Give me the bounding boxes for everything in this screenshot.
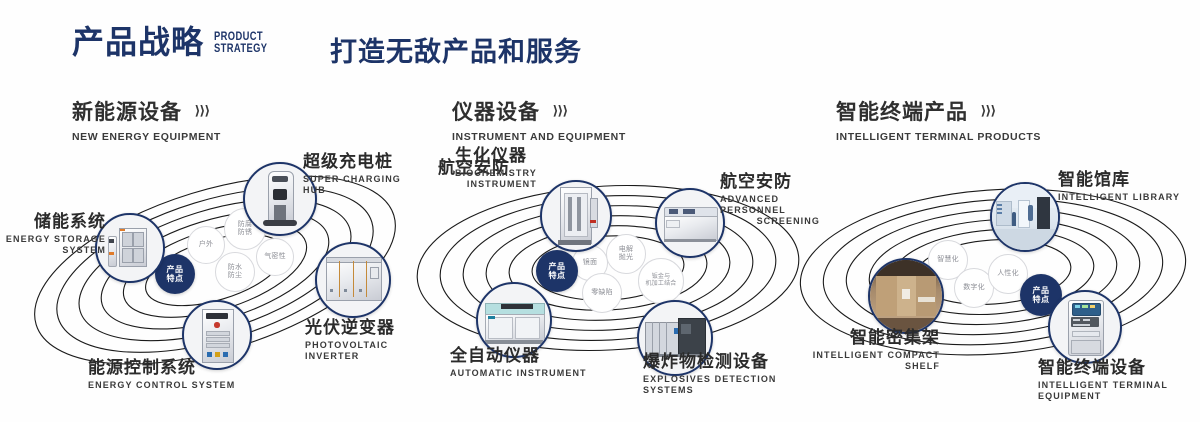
section-header-new-energy: 新能源设备 ⟩⟩⟩ NEW ENERGY EQUIPMENT xyxy=(72,96,221,143)
feature-bubble-line1: 防水 xyxy=(228,264,242,272)
product-circle-biochemistry[interactable] xyxy=(540,180,612,252)
product-label-cn: 储能系统 xyxy=(0,212,106,232)
section-title-cn: 新能源设备 xyxy=(72,96,182,126)
section-header-intelligent-terminal: 智能终端产品 ⟩⟩⟩ INTELLIGENT TERMINAL PRODUCTS xyxy=(836,96,1041,143)
chevron-right-icon: ⟩⟩⟩ xyxy=(552,103,567,119)
product-label-en-line1: INTELLIGENT COMPACT xyxy=(780,350,940,361)
section-header-instrument: 仪器设备 ⟩⟩⟩ INSTRUMENT AND EQUIPMENT xyxy=(452,96,626,143)
orbit-group-new-energy: 户外 防腐 防锈 防水 防尘 气密性 产品 特点 xyxy=(0,150,420,400)
feature-bubble: 气密性 xyxy=(256,238,294,276)
product-label-cn: 能源控制系统 xyxy=(88,358,235,378)
page-title-english-line1: PRODUCT xyxy=(214,30,267,43)
product-label-cn: 生化仪器 xyxy=(455,146,537,166)
core-bubble-line2: 特点 xyxy=(167,274,184,283)
product-label-automatic-instrument: 全自动仪器 AUTOMATIC INSTRUMENT xyxy=(450,346,587,379)
product-label-en-line1: INTELLIGENT LIBRARY xyxy=(1058,192,1180,203)
product-label-en-line2: SYSTEM xyxy=(0,245,106,256)
section-title-cn: 智能终端产品 xyxy=(836,96,968,126)
product-circle-pv-inverter[interactable] xyxy=(315,242,391,318)
product-circle-screening[interactable] xyxy=(655,188,725,258)
product-label-en-line2: SHELF xyxy=(780,361,940,372)
feature-bubble-line1: 钣金与 xyxy=(645,274,676,281)
feature-bubble-line2: 防尘 xyxy=(228,272,242,280)
section-title-cn: 仪器设备 xyxy=(452,96,540,126)
feature-bubble-line2: 机加工结合 xyxy=(645,281,676,288)
feature-bubble: 零缺陷 xyxy=(582,273,622,313)
product-label-en-line1: ENERGY CONTROL SYSTEM xyxy=(88,380,235,391)
feature-bubble-line1: 数字化 xyxy=(963,284,985,292)
product-label-cn: 全自动仪器 xyxy=(450,346,587,366)
page-title: 产品战略 xyxy=(72,26,204,58)
product-label-cn: 智能终端设备 xyxy=(1038,358,1200,378)
page-header: 产品战略 PRODUCT STRATEGY xyxy=(72,26,282,58)
product-circle-intelligent-library[interactable] xyxy=(990,182,1060,252)
feature-bubble: 电解 抛光 xyxy=(606,234,646,274)
product-label-biochemistry: 生化仪器 BIOCHEMISTRY INSTRUMENT xyxy=(455,146,537,190)
product-label-en-line2: INSTRUMENT xyxy=(455,179,537,190)
product-label-cn: 智能密集架 xyxy=(780,328,940,348)
product-label-en-line1: BIOCHEMISTRY xyxy=(455,168,537,179)
feature-bubble-line2: 抛光 xyxy=(619,254,633,262)
feature-bubble-line1: 人性化 xyxy=(997,270,1019,278)
orbit-group-intelligent-terminal: 智慧化 数字化 人性化 产品 特点 xyxy=(790,150,1200,400)
core-bubble-line1: 产品 xyxy=(549,262,566,271)
product-circle-terminal-equipment[interactable] xyxy=(1048,290,1122,364)
product-label-energy-storage: 储能系统 ENERGY STORAGE SYSTEM xyxy=(0,212,106,256)
core-bubble-line1: 产品 xyxy=(1033,286,1050,295)
product-label-energy-control: 能源控制系统 ENERGY CONTROL SYSTEM xyxy=(88,358,235,391)
product-circle-compact-shelf[interactable] xyxy=(868,258,944,334)
section-title-en: INTELLIGENT TERMINAL PRODUCTS xyxy=(836,131,1041,143)
chevron-right-icon: ⟩⟩⟩ xyxy=(980,103,995,119)
feature-bubble: 防水 防尘 xyxy=(215,252,255,292)
product-label-en-line1: INTELLIGENT TERMINAL EQUIPMENT xyxy=(1038,380,1200,403)
section-title-en: NEW ENERGY EQUIPMENT xyxy=(72,131,221,143)
product-label-cn: 智能馆库 xyxy=(1058,170,1180,190)
product-label-intelligent-library: 智能馆库 INTELLIGENT LIBRARY xyxy=(1058,170,1180,203)
section-title-en: INSTRUMENT AND EQUIPMENT xyxy=(452,131,626,143)
core-bubble-line2: 特点 xyxy=(549,271,566,280)
orbit-group-instrument: 镜面 电解 抛光 零缺陷 钣金与 机加工结合 产品 特点 xyxy=(400,150,820,400)
core-bubble-line2: 特点 xyxy=(1033,295,1050,304)
product-label-terminal-equipment: 智能终端设备 INTELLIGENT TERMINAL EQUIPMENT xyxy=(1038,358,1200,402)
core-bubble-line1: 产品 xyxy=(167,265,184,274)
page-title-english-line2: STRATEGY xyxy=(214,42,267,55)
feature-bubble-line1: 镜面 xyxy=(583,259,597,267)
product-label-en-line1: AUTOMATIC INSTRUMENT xyxy=(450,368,587,379)
feature-bubble-line1: 零缺陷 xyxy=(591,289,613,297)
feature-bubble-line1: 气密性 xyxy=(264,253,286,261)
chevron-right-icon: ⟩⟩⟩ xyxy=(194,103,209,119)
page-title-english: PRODUCT STRATEGY xyxy=(214,30,267,58)
product-strategy-infographic: 产品战略 PRODUCT STRATEGY 打造无敌产品和服务 新能源设备 ⟩⟩… xyxy=(0,0,1200,422)
feature-bubble: 钣金与 机加工结合 xyxy=(638,258,684,304)
feature-bubble-line1: 电解 xyxy=(619,246,633,254)
product-label-en-line1: ENERGY STORAGE xyxy=(0,234,106,245)
feature-bubble-line1: 户外 xyxy=(199,241,213,249)
page-subtitle: 打造无敌产品和服务 xyxy=(330,30,582,69)
product-label-compact-shelf: 智能密集架 INTELLIGENT COMPACT SHELF xyxy=(780,328,940,372)
